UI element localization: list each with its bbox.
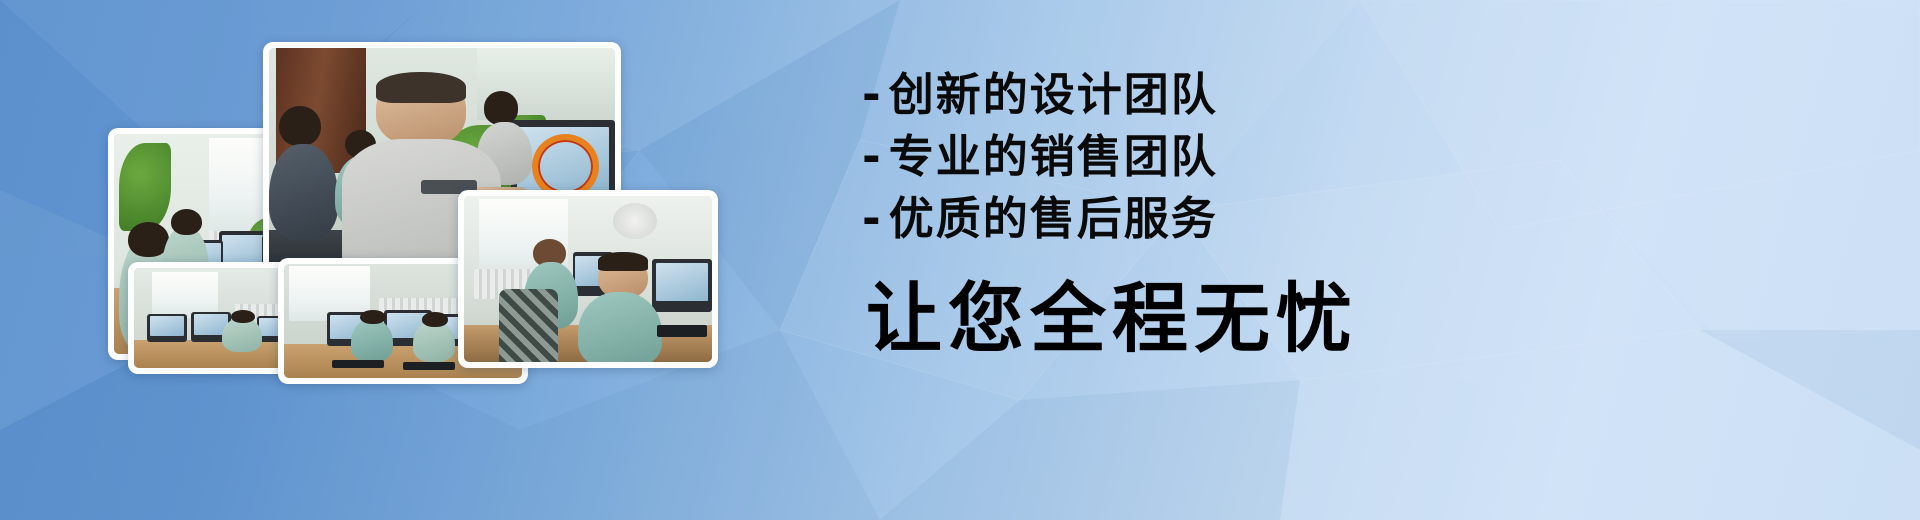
banner-headline: 让您全程无忧 <box>866 276 1562 362</box>
feature-bullet-label: 优质的售后服务 <box>889 188 1218 250</box>
feature-bullet-item: - 创新的设计团队 <box>862 64 1562 126</box>
bullet-dash-marker: - <box>862 188 883 250</box>
bullet-dash-marker: - <box>862 126 883 188</box>
feature-bullet-label: 专业的销售团队 <box>889 126 1218 188</box>
collage-photo-staff-using-computers <box>458 190 718 368</box>
feature-bullet-item: - 优质的售后服务 <box>862 188 1562 250</box>
feature-bullet-item: - 专业的销售团队 <box>862 126 1562 188</box>
bullet-dash-marker: - <box>862 64 883 126</box>
promo-banner: - 创新的设计团队 - 专业的销售团队 - 优质的售后服务 让您全程无忧 <box>0 0 1920 520</box>
photo-collage <box>0 0 760 520</box>
feature-bullet-label: 创新的设计团队 <box>889 64 1218 126</box>
banner-text-block: - 创新的设计团队 - 专业的销售团队 - 优质的售后服务 让您全程无忧 <box>862 64 1562 362</box>
feature-bullet-list: - 创新的设计团队 - 专业的销售团队 - 优质的售后服务 <box>862 64 1562 250</box>
